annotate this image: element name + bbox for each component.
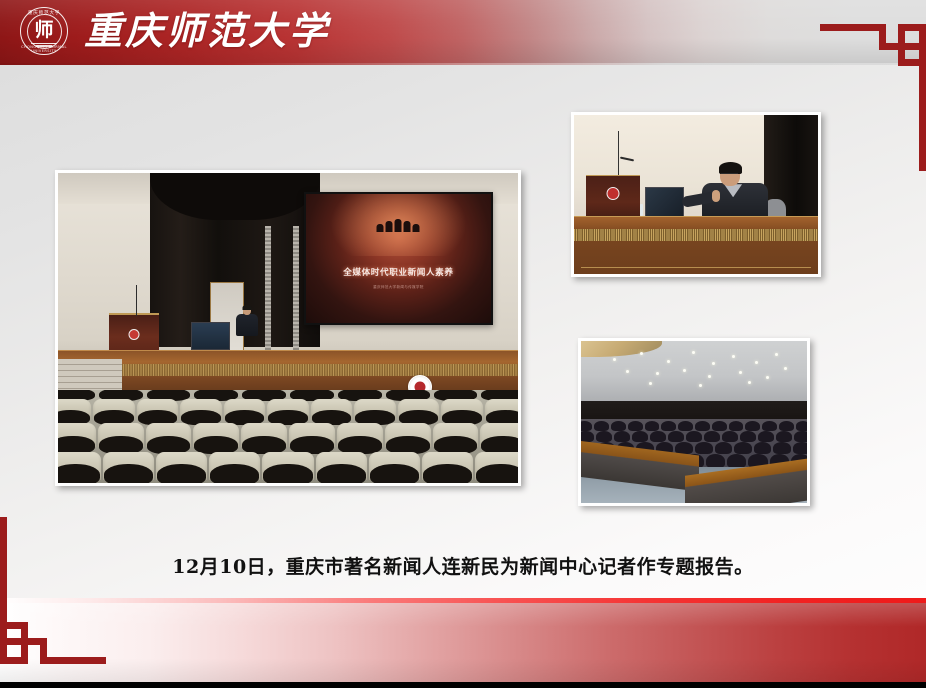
- speaker-desk: [574, 216, 818, 274]
- glasses-icon: [721, 173, 738, 178]
- screen-subtitle-text: 重庆师范大学新闻与传媒学院: [306, 285, 491, 290]
- corner-ornament-bottom-left-icon: [0, 517, 106, 682]
- lecture-hall-wide-photo[interactable]: 全媒体时代职业新闻人素养 重庆师范大学新闻与传媒学院: [55, 170, 521, 486]
- stage-monitor: [191, 322, 230, 350]
- podium-microphone-icon: [136, 285, 137, 316]
- stage-truss-left: [265, 226, 271, 350]
- page-title: 重庆师范大学: [84, 5, 330, 57]
- header-underline: [0, 63, 926, 65]
- stage-decorative-band: [58, 364, 518, 376]
- bottom-black-edge: [0, 682, 926, 688]
- bottom-band-shading: [0, 603, 926, 682]
- seal-top-text: 重庆师范大学: [20, 10, 68, 16]
- seal-center-mark: 师: [34, 21, 53, 40]
- water-bottle: [640, 204, 644, 216]
- audience-photo[interactable]: [578, 338, 810, 506]
- speaker-closeup-photo[interactable]: [571, 112, 821, 277]
- screen-graphic-figures: [377, 219, 420, 232]
- university-seal-icon: 重庆师范大学 师 CHONGQING NORMAL UNIVERSITY: [20, 7, 68, 55]
- corner-ornament-top-right-icon: [820, 6, 926, 171]
- slide-caption: 12月10日，重庆市著名新闻人连新民为新闻中心记者作专题报告。: [0, 552, 926, 579]
- presentation-slide: 重庆师范大学 师 CHONGQING NORMAL UNIVERSITY 重庆师…: [0, 0, 926, 688]
- projection-screen: 全媒体时代职业新闻人素养 重庆师范大学新闻与传媒学院: [304, 192, 493, 325]
- speaker-figure: [233, 306, 261, 353]
- stage-truss-right: [293, 226, 299, 350]
- audience-seating: [58, 390, 518, 483]
- speaker-microphone-stand-icon: [618, 131, 619, 179]
- seal-bottom-text: CHONGQING NORMAL UNIVERSITY: [20, 45, 68, 53]
- header-banner: 重庆师范大学 师 CHONGQING NORMAL UNIVERSITY 重庆师…: [0, 0, 926, 63]
- ceiling-lights: [581, 346, 807, 401]
- screen-title-text: 全媒体时代职业新闻人素养: [306, 266, 491, 278]
- seal-wing-upper: [31, 43, 57, 45]
